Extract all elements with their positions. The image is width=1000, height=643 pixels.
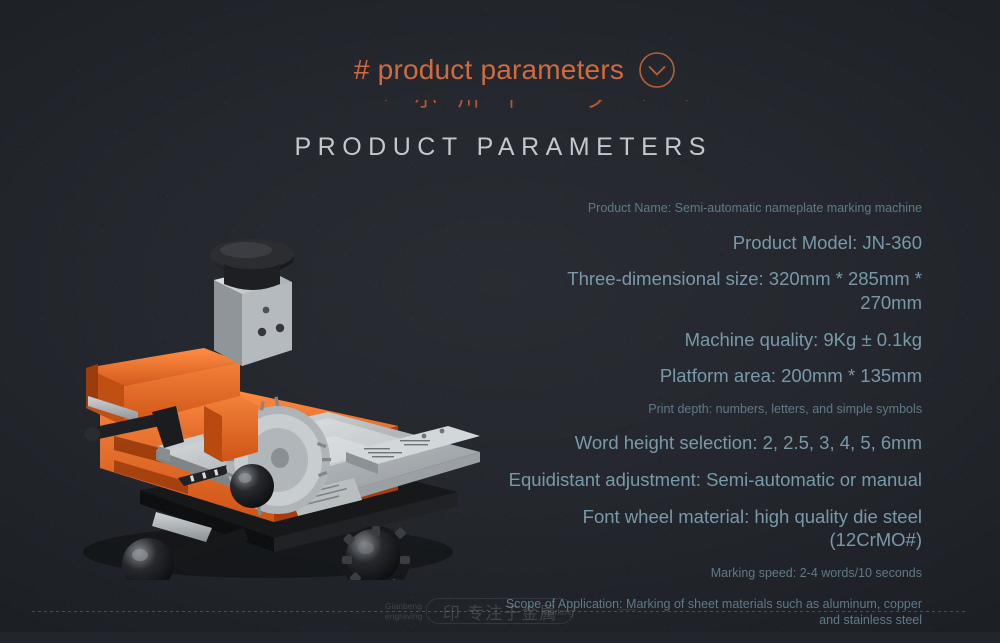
spec-dimensions: Three-dimensional size: 320mm * 285mm * … <box>502 267 922 314</box>
spec-product-name: Product Name: Semi-automatic nameplate m… <box>502 200 922 217</box>
spec-marking-speed: Marking speed: 2-4 words/10 seconds <box>502 565 922 582</box>
spec-print-depth: Print depth: numbers, letters, and simpl… <box>502 401 922 418</box>
header-title-group: # product parameters <box>303 44 727 96</box>
clipped-subheading-glyphs: 一 丶 小 川 丨 一 夕 丶 丶 <box>303 100 727 113</box>
marking-machine-illustration <box>28 160 498 580</box>
specification-list: Product Name: Semi-automatic nameplate m… <box>502 200 922 643</box>
spec-scope-application: Scope of Application: Marking of sheet m… <box>502 596 922 629</box>
spec-word-height: Word height selection: 2, 2.5, 3, 4, 5, … <box>502 431 922 455</box>
spec-font-wheel-material: Font wheel material: high quality die st… <box>502 505 922 552</box>
spec-product-model: Product Model: JN-360 <box>502 231 922 255</box>
product-photo <box>28 160 498 580</box>
spec-equidistant-adjust: Equidistant adjustment: Semi-automatic o… <box>502 468 922 492</box>
page-title: # product parameters <box>354 54 624 86</box>
page-subtitle: PRODUCT PARAMETERS <box>0 133 1000 162</box>
header-bracket-frame: # product parameters 一 丶 小 川 丨 一 夕 丶 丶 <box>303 22 727 108</box>
spec-platform-area: Platform area: 200mm * 135mm <box>502 364 922 388</box>
chevron-down-circle-icon[interactable] <box>638 51 676 89</box>
spec-machine-quality: Machine quality: 9Kg ± 0.1kg <box>502 328 922 352</box>
